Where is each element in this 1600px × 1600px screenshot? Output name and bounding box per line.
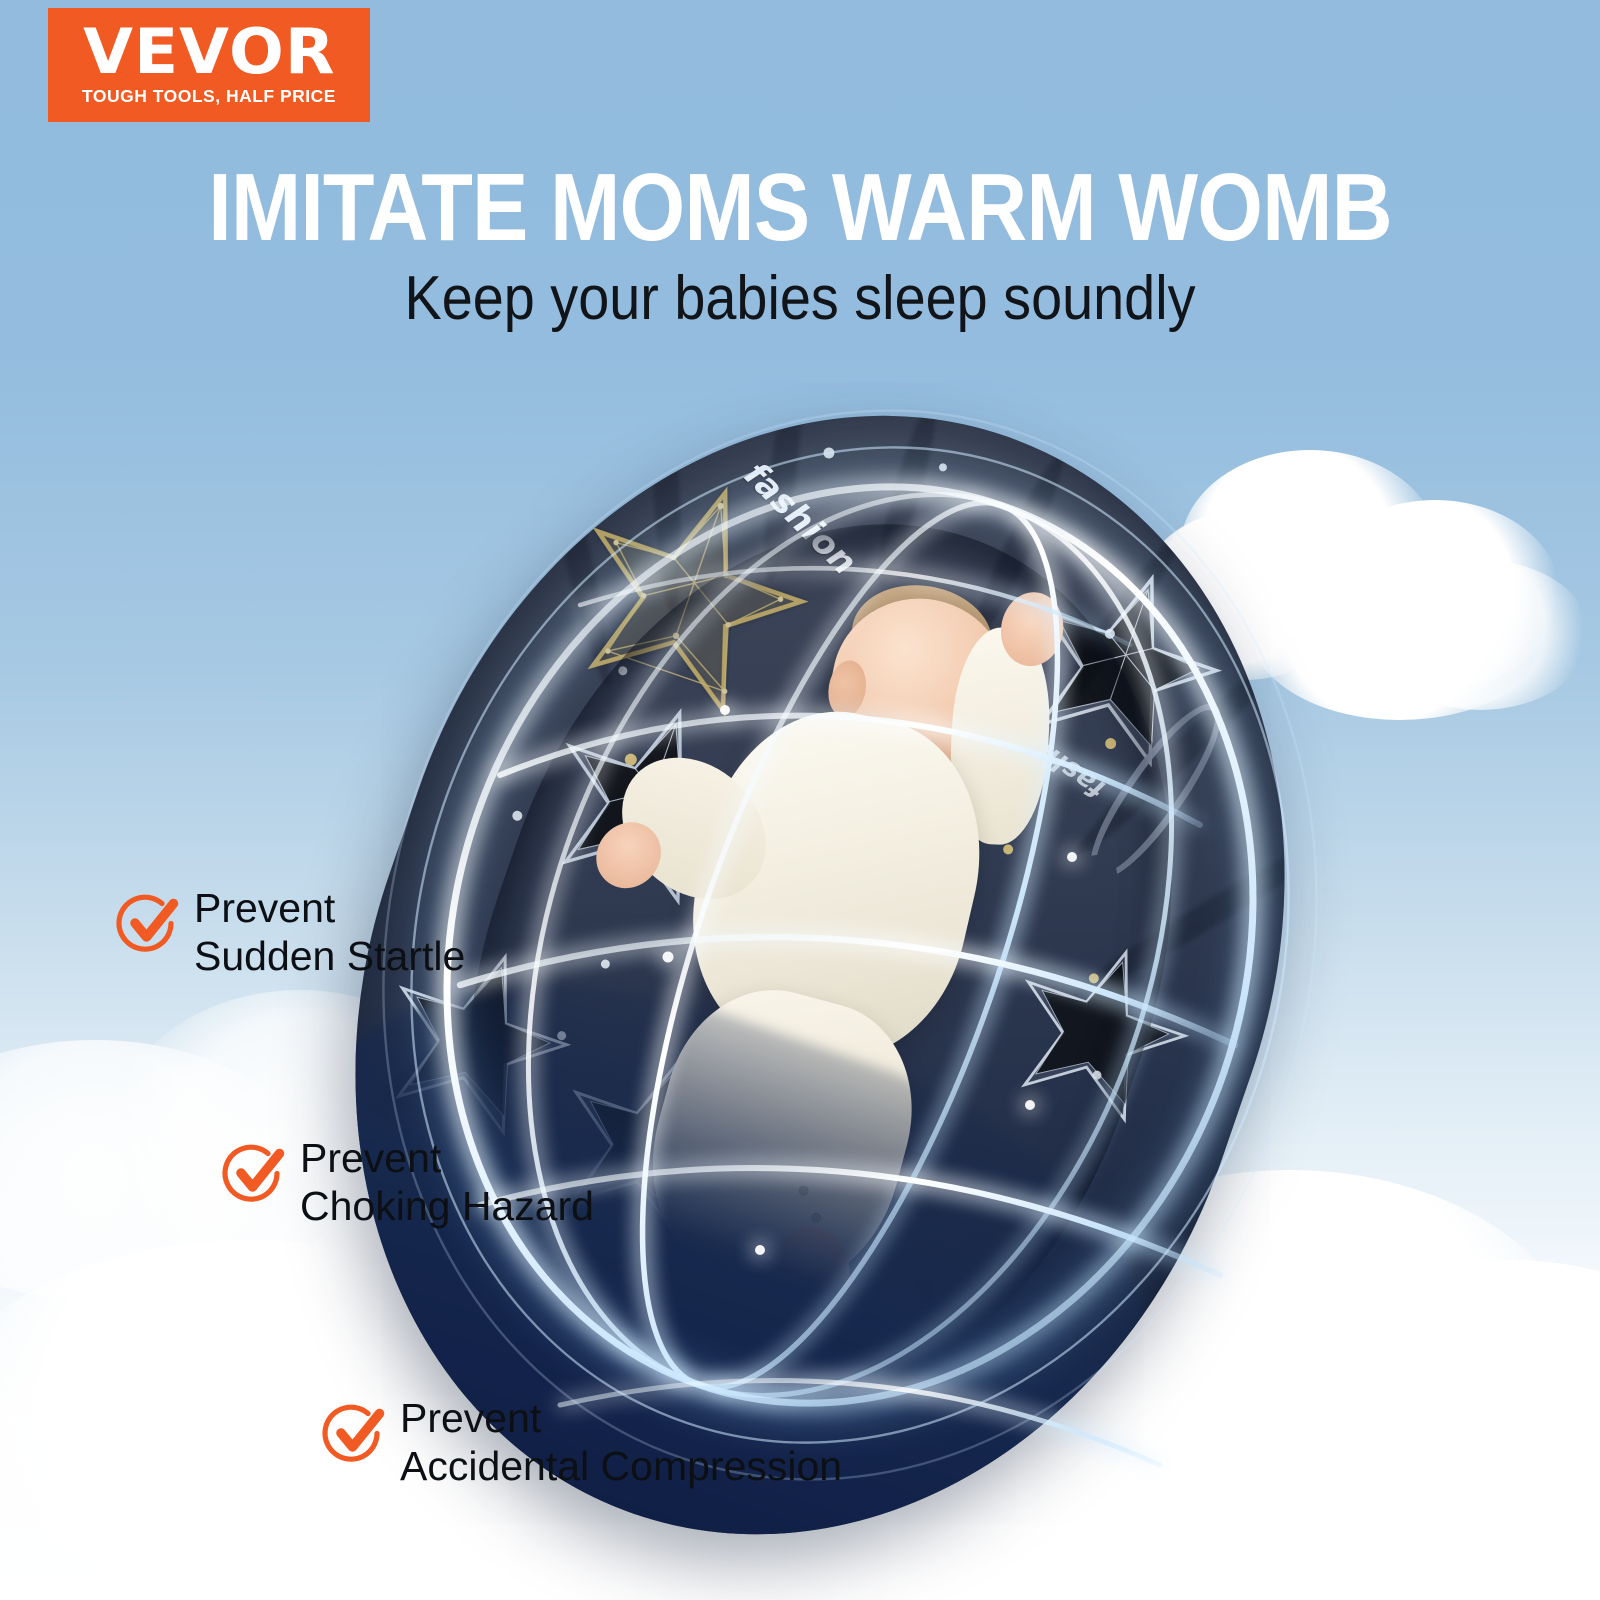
triangle-print-gold	[664, 1201, 821, 1360]
check-circle-icon	[222, 1140, 286, 1204]
feature-line-2: Accidental Compression	[400, 1442, 842, 1490]
brand-name: VEVOR	[83, 23, 335, 80]
page-subheadline: Keep your babies sleep soundly	[80, 268, 1520, 330]
feature-label: Prevent Choking Hazard	[300, 1134, 594, 1231]
page-headline: IMITATE MOMS WARM WOMB	[96, 160, 1504, 256]
vevor-logo: VEVOR TOUGH TOOLS, HALF PRICE	[48, 8, 370, 122]
feature-line-2: Choking Hazard	[300, 1182, 594, 1230]
baby-foot	[770, 1227, 851, 1320]
feature-line-2: Sudden Startle	[194, 932, 465, 980]
feature-line-1: Prevent	[194, 884, 465, 932]
drawstring-tie-end	[689, 1350, 740, 1400]
feature-item-sudden-startle: Prevent Sudden Startle	[116, 884, 465, 981]
feature-label: Prevent Sudden Startle	[194, 884, 465, 981]
feature-line-1: Prevent	[400, 1394, 842, 1442]
feature-item-accidental-compression: Prevent Accidental Compression	[322, 1394, 842, 1491]
check-circle-icon	[116, 890, 180, 954]
check-circle-icon	[322, 1400, 386, 1464]
feature-label: Prevent Accidental Compression	[400, 1394, 842, 1491]
feature-line-1: Prevent	[300, 1134, 594, 1182]
product-image-baby-nest: fashion fashion fashion	[330, 345, 1450, 1575]
drawstring-tie	[636, 1318, 721, 1371]
feature-item-choking-hazard: Prevent Choking Hazard	[222, 1134, 594, 1231]
marketing-banner: VEVOR TOUGH TOOLS, HALF PRICE IMITATE MO…	[0, 0, 1600, 1600]
brand-tagline: TOUGH TOOLS, HALF PRICE	[82, 86, 336, 107]
